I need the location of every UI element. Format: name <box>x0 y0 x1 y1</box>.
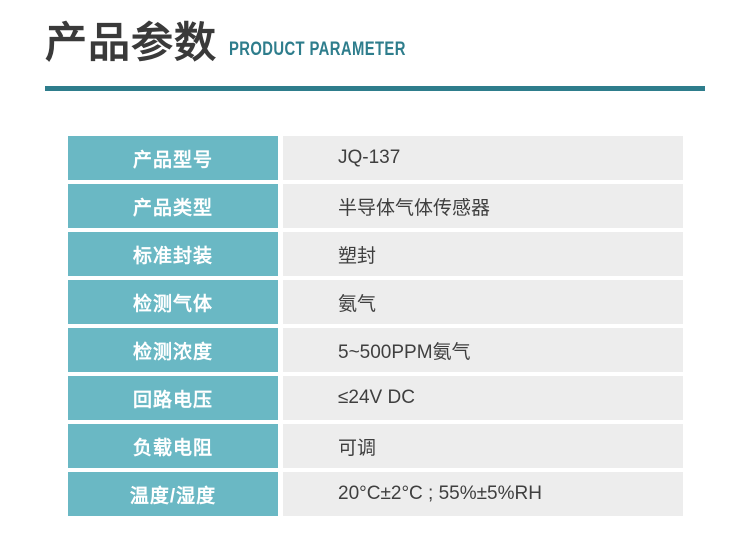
spec-value-cell: 可调 <box>283 424 683 468</box>
spec-value-cell: JQ-137 <box>283 136 683 180</box>
spec-label-cell: 检测气体 <box>68 280 278 324</box>
spec-label-cell: 负载电阻 <box>68 424 278 468</box>
table-row: 回路电压≤24V DC <box>68 376 683 420</box>
spec-value-cell: 塑封 <box>283 232 683 276</box>
table-row: 产品类型半导体气体传感器 <box>68 184 683 228</box>
spec-label-cell: 温度/湿度 <box>68 472 278 516</box>
spec-label-cell: 检测浓度 <box>68 328 278 372</box>
product-parameter-page: 产品参数 PRODUCT PARAMETER 产品型号JQ-137产品类型半导体… <box>0 0 750 550</box>
header-titles: 产品参数 PRODUCT PARAMETER <box>45 22 456 64</box>
spec-label-cell: 产品型号 <box>68 136 278 180</box>
spec-value-cell: 20°C±2°C ; 55%±5%RH <box>283 472 683 516</box>
spec-label-cell: 标准封装 <box>68 232 278 276</box>
page-header: 产品参数 PRODUCT PARAMETER <box>0 0 750 96</box>
spec-table: 产品型号JQ-137产品类型半导体气体传感器标准封装塑封检测气体氨气检测浓度5~… <box>68 136 683 516</box>
spec-value-cell: 5~500PPM氨气 <box>283 328 683 372</box>
table-row: 检测浓度5~500PPM氨气 <box>68 328 683 372</box>
table-row: 负载电阻可调 <box>68 424 683 468</box>
table-row: 标准封装塑封 <box>68 232 683 276</box>
spec-value-cell: 氨气 <box>283 280 683 324</box>
spec-label-cell: 回路电压 <box>68 376 278 420</box>
header-divider <box>45 86 705 91</box>
table-row: 产品型号JQ-137 <box>68 136 683 180</box>
page-title: 产品参数 <box>45 22 217 64</box>
table-row: 检测气体氨气 <box>68 280 683 324</box>
spec-label-cell: 产品类型 <box>68 184 278 228</box>
spec-value-cell: ≤24V DC <box>283 376 683 420</box>
spec-value-cell: 半导体气体传感器 <box>283 184 683 228</box>
page-subtitle-english: PRODUCT PARAMETER <box>229 40 406 59</box>
table-row: 温度/湿度20°C±2°C ; 55%±5%RH <box>68 472 683 516</box>
